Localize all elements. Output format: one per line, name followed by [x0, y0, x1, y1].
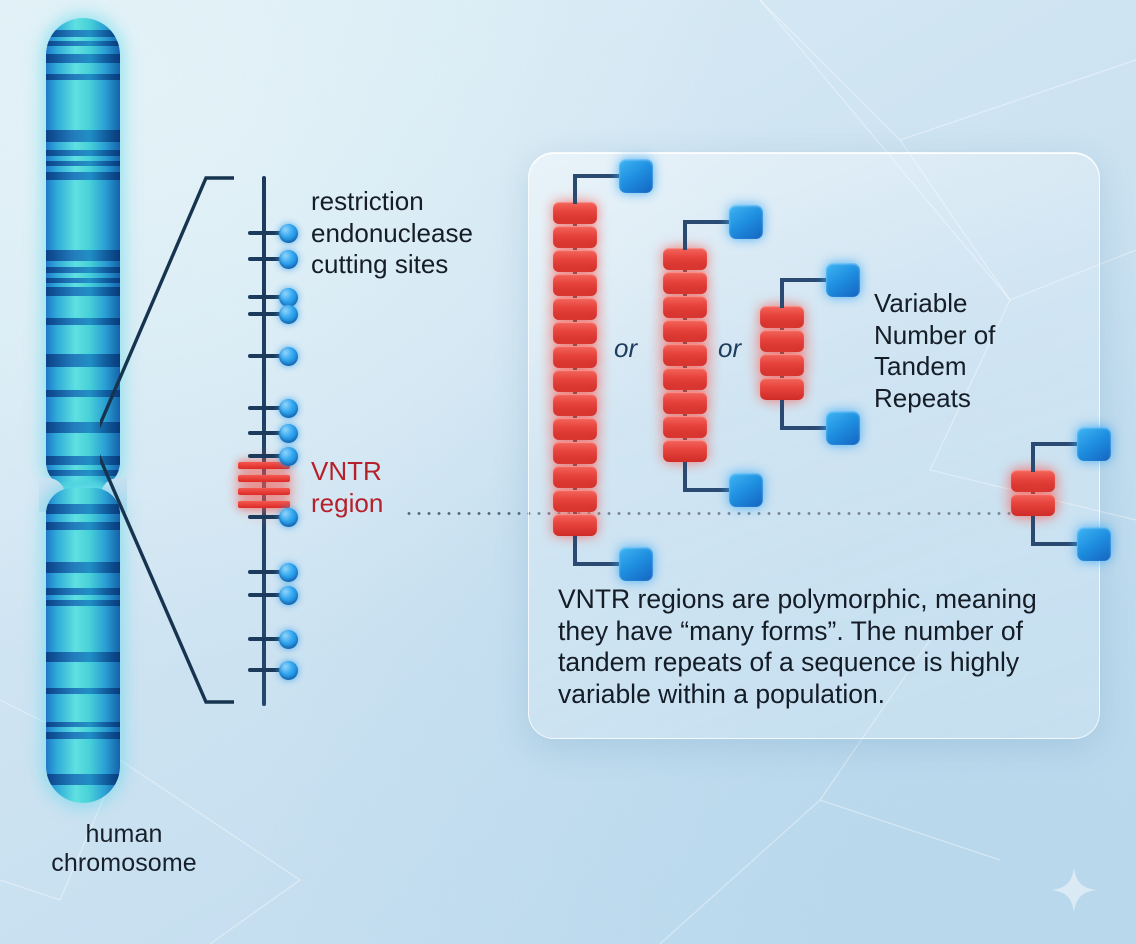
sparkle-icon	[1052, 868, 1096, 912]
cut-site-marker	[279, 424, 298, 443]
or-separator-1: or	[614, 333, 637, 364]
callout-brackets	[100, 160, 270, 720]
panel-caption-line1: VNTR regions are polymorphic, meaning	[558, 584, 1092, 616]
flank-connectors	[1011, 470, 1136, 578]
cut-site-marker	[279, 563, 298, 582]
chromosome-caption-line1: human	[34, 820, 214, 849]
label-vntr-region: VNTR region	[311, 456, 383, 519]
cutting-sites-line1: restriction	[311, 186, 473, 218]
cut-site-marker	[279, 630, 298, 649]
chromosome-caption: human chromosome	[34, 820, 214, 878]
flanking-region-top	[1077, 427, 1111, 461]
vntr-region-bands	[238, 462, 290, 510]
flanking-region-bottom	[619, 547, 653, 581]
flanking-region-top	[729, 205, 763, 239]
flanking-region-top	[826, 263, 860, 297]
cut-site-marker	[279, 447, 298, 466]
cut-site-marker	[279, 508, 298, 527]
cut-site-marker	[279, 250, 298, 269]
flanking-region-top	[619, 159, 653, 193]
cut-site-marker	[279, 305, 298, 324]
cut-site-marker	[279, 399, 298, 418]
panel-caption-line4: variable within a population.	[558, 679, 1092, 711]
cutting-sites-line3: cutting sites	[311, 249, 473, 281]
cut-site-marker	[279, 224, 298, 243]
panel-caption-line2: they have “many forms”. The number of	[558, 616, 1092, 648]
cut-site-marker	[279, 661, 298, 680]
label-vntr-expansion: Variable Number of Tandem Repeats	[874, 288, 995, 414]
flanking-region-bottom	[1077, 527, 1111, 561]
expansion-line3: Tandem	[874, 351, 995, 383]
cut-site-marker	[279, 586, 298, 605]
expansion-line2: Number of	[874, 320, 995, 352]
panel-caption: VNTR regions are polymorphic, meaning th…	[558, 584, 1092, 710]
cut-site-marker	[279, 347, 298, 366]
expansion-line1: Variable	[874, 288, 995, 320]
bracket-lower	[100, 440, 234, 702]
cutting-sites-line2: endonuclease	[311, 218, 473, 250]
restriction-map-axis	[262, 176, 266, 706]
panel-caption-line3: tandem repeats of a sequence is highly	[558, 647, 1092, 679]
label-restriction-cutting-sites: restriction endonuclease cutting sites	[311, 186, 473, 281]
flanking-region-bottom	[729, 473, 763, 507]
or-separator-2: or	[718, 333, 741, 364]
flanking-region-bottom	[826, 411, 860, 445]
chromosome-caption-line2: chromosome	[34, 849, 214, 878]
allele-mini	[1011, 470, 1136, 578]
expansion-line4: Repeats	[874, 383, 995, 415]
bracket-upper	[100, 178, 234, 443]
vntr-region-line2: region	[311, 488, 383, 520]
vntr-region-line1: VNTR	[311, 456, 383, 488]
